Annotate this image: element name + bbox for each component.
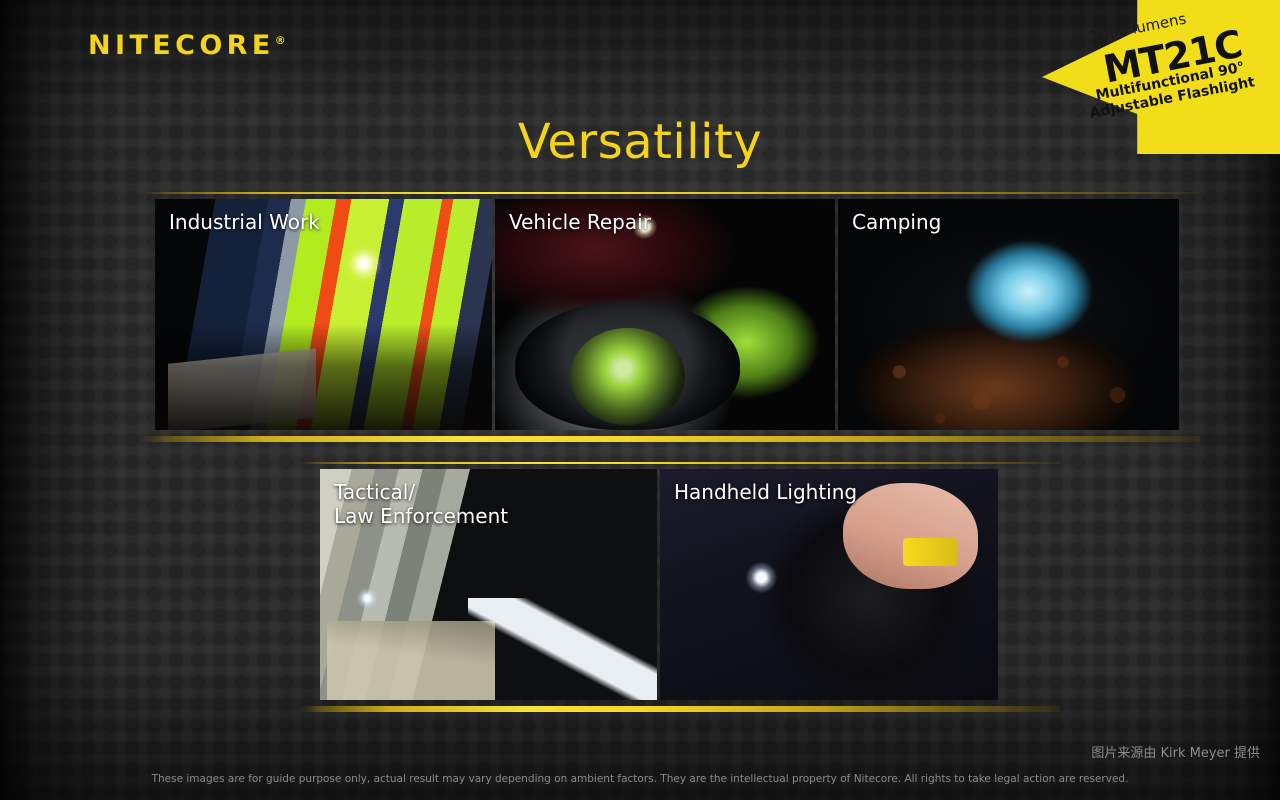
slide-root: NITECORE® 1000 lumens MT21C Multifunctio…	[0, 0, 1280, 800]
row-two-strip: Tactical/ Law Enforcement Handheld Light…	[320, 469, 998, 700]
row-one-top-band	[140, 192, 1200, 194]
panel-camping[interactable]: Camping	[838, 199, 1179, 430]
panel-label-vehicle-repair: Vehicle Repair	[509, 210, 651, 234]
row-one-strip: Industrial Work Vehicle Repair Camping	[155, 199, 1192, 430]
panel-tactical-law-enforcement[interactable]: Tactical/ Law Enforcement	[320, 469, 657, 700]
panel-label-camping: Camping	[852, 210, 941, 234]
row-two-top-band	[300, 462, 1060, 464]
panel-handheld-lighting[interactable]: Handheld Lighting	[660, 469, 998, 700]
row-two-bottom-band	[300, 706, 1060, 712]
panel-label-industrial-work: Industrial Work	[169, 210, 320, 234]
photo-credit: 图片来源由 Kirk Meyer 提供	[1091, 742, 1260, 761]
logo-wordmark: NITECORE	[88, 30, 275, 61]
row-one-bottom-band	[140, 436, 1200, 442]
legal-disclaimer: These images are for guide purpose only,…	[0, 773, 1280, 785]
page-title: Versatility	[0, 114, 1280, 170]
nitecore-logo: NITECORE®	[88, 32, 286, 59]
panel-label-handheld-lighting: Handheld Lighting	[674, 480, 857, 504]
panel-label-tactical-law-enforcement: Tactical/ Law Enforcement	[334, 480, 508, 528]
registered-trademark-icon: ®	[275, 34, 286, 47]
row-one: Industrial Work Vehicle Repair Camping	[140, 192, 1200, 444]
panel-industrial-work[interactable]: Industrial Work	[155, 199, 492, 430]
row-two: Tactical/ Law Enforcement Handheld Light…	[300, 462, 1060, 714]
panel-vehicle-repair[interactable]: Vehicle Repair	[495, 199, 835, 430]
